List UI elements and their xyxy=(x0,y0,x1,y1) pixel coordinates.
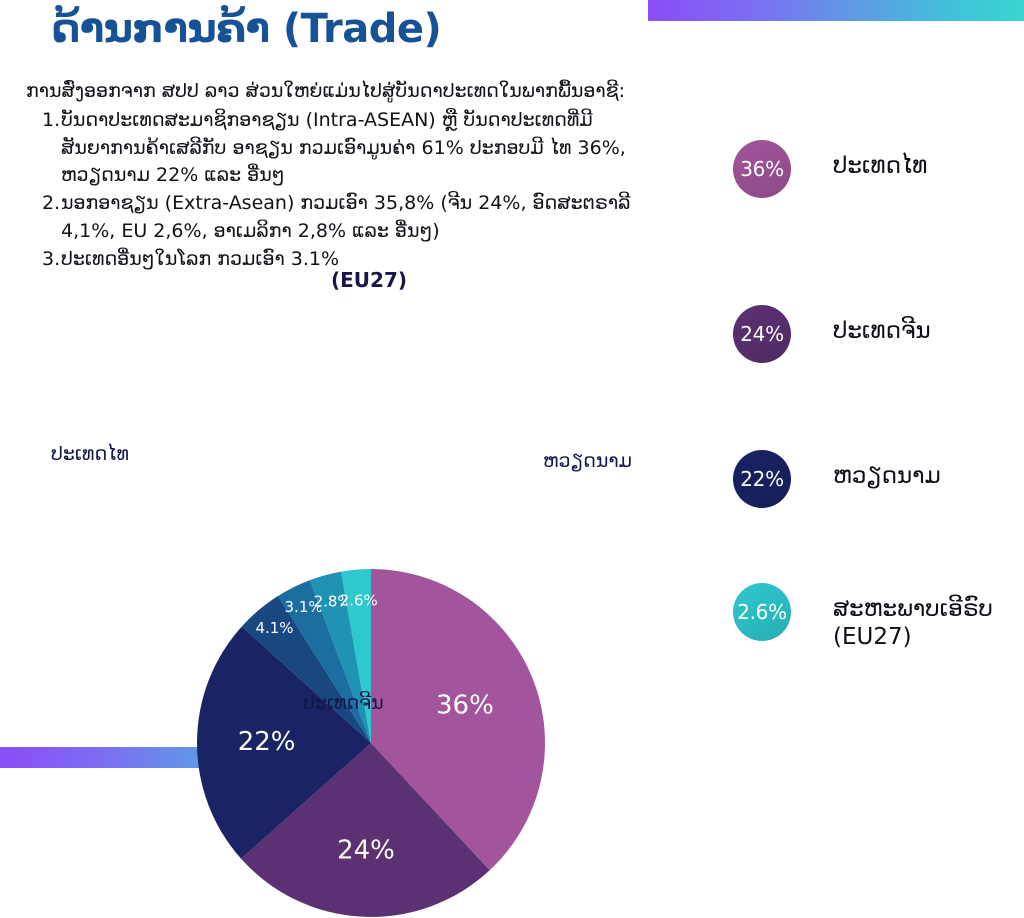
pie-outer-label-vietnam: ຫວຽດນາມ xyxy=(543,450,632,472)
pie-slice-label: 24% xyxy=(337,835,395,865)
pie-chart-svg: 36%24%22%4.1%3.1%2.8%2.6% xyxy=(196,568,546,918)
pie-outer-label-china: ປະເທດຈີນ xyxy=(303,692,384,714)
legend-item-vietnam[interactable]: 22% ຫວຽດນາມ xyxy=(733,450,941,508)
legend-label-line1: ຫວຽດນາມ xyxy=(833,463,941,489)
page-title: ດ້ານການຄ້າ (Trade) xyxy=(52,6,441,52)
legend-bubble-thailand: 36% xyxy=(733,140,791,198)
intro-paragraph: ການສົ່ງອອກຈາກ ສປປ ລາວ ສ່ວນໃຫຍ່ແມ່ນໄປສູ່ບ… xyxy=(26,78,625,106)
legend-item-thailand[interactable]: 36% ປະເທດໄທ xyxy=(733,140,927,198)
list-item-number: 1. xyxy=(42,107,61,135)
legend-label-line1: ປະເທດຈີນ xyxy=(833,318,931,344)
legend-label-line1: ປະເທດໄທ xyxy=(833,153,927,179)
legend-bubble-eu: 2.6% xyxy=(733,583,791,641)
legend-item-eu[interactable]: 2.6% ສະຫະພາບເອີຣົບ (EU27) xyxy=(733,583,993,651)
list-item-text: ບັນດາປະເທດສະມາຊິກອາຊຽນ (Intra-ASEAN) ຫຼື… xyxy=(61,107,638,190)
pie-chart: 36%24%22%4.1%3.1%2.8%2.6% xyxy=(0,255,660,715)
numbered-list: 1. ບັນດາປະເທດສະມາຊິກອາຊຽນ (Intra-ASEAN) … xyxy=(42,107,638,273)
pie-slice-label: 4.1% xyxy=(255,619,293,637)
pie-slice-label: 36% xyxy=(436,691,494,721)
legend-label-line1: ສະຫະພາບເອີຣົບ xyxy=(833,596,993,622)
legend-label-thailand: ປະເທດໄທ xyxy=(833,140,927,180)
list-item-text: ນອກອາຊຽນ (Extra-Asean) ກວມເອົາ 35,8% (ຈີ… xyxy=(61,190,638,245)
pie-slice-label: 2.6% xyxy=(340,591,378,609)
legend-label-china: ປະເທດຈີນ xyxy=(833,305,931,345)
list-item: 2. ນອກອາຊຽນ (Extra-Asean) ກວມເອົາ 35,8% … xyxy=(42,190,638,245)
legend-label-line2: (EU27) xyxy=(833,623,993,651)
list-item: 1. ບັນດາປະເທດສະມາຊິກອາຊຽນ (Intra-ASEAN) … xyxy=(42,107,638,190)
pie-outer-label-thailand: ປະເທດໄທ xyxy=(51,443,129,465)
list-item-number: 2. xyxy=(42,190,61,218)
legend-label-eu: ສະຫະພາບເອີຣົບ (EU27) xyxy=(833,583,993,651)
pie-slice-label: 22% xyxy=(238,727,296,757)
legend-label-vietnam: ຫວຽດນາມ xyxy=(833,450,941,490)
legend-bubble-vietnam: 22% xyxy=(733,450,791,508)
top-gradient-bar xyxy=(648,0,1024,21)
legend-bubble-china: 24% xyxy=(733,305,791,363)
legend-item-china[interactable]: 24% ປະເທດຈີນ xyxy=(733,305,931,363)
